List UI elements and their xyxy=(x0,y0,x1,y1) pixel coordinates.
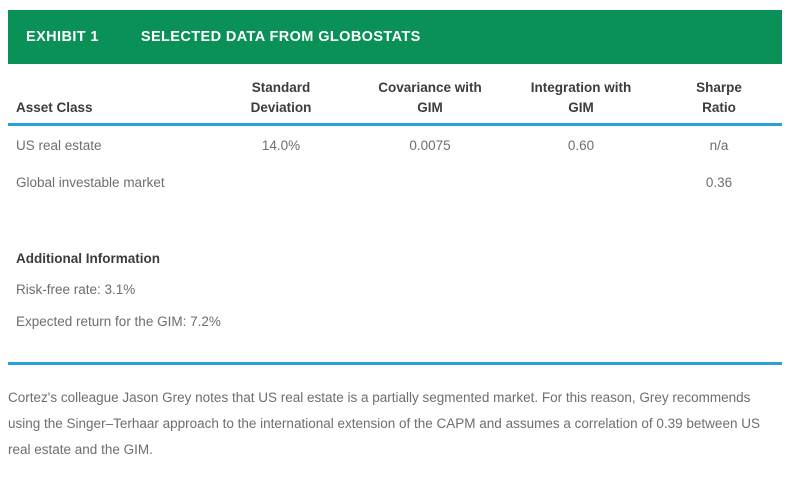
table-row: Global investable market 0.36 xyxy=(8,164,782,201)
cell-asset-class: US real estate xyxy=(8,125,208,165)
exhibit-title: SELECTED DATA FROM GLOBOSTATS xyxy=(141,29,421,45)
note-paragraph: Cortez's colleague Jason Grey notes that… xyxy=(8,385,776,463)
cell-standard-deviation: 14.0% xyxy=(208,125,354,165)
data-table-wrapper: Asset Class Standard Deviation Covarianc… xyxy=(8,78,782,201)
exhibit-banner: EXHIBIT 1 SELECTED DATA FROM GLOBOSTATS xyxy=(8,10,782,64)
column-header-standard-deviation-line1: Standard xyxy=(252,80,311,95)
column-header-integration-line2: GIM xyxy=(568,100,594,115)
column-header-covariance-line2: GIM xyxy=(417,100,443,115)
column-header-asset-class: Asset Class xyxy=(8,78,208,125)
cell-covariance-with-gim: 0.0075 xyxy=(354,125,506,165)
column-header-standard-deviation: Standard Deviation xyxy=(208,78,354,125)
column-header-sharpe-line1: Sharpe xyxy=(696,80,742,95)
additional-information-risk-free-rate: Risk-free rate: 3.1% xyxy=(16,282,616,297)
column-header-sharpe-line2: Ratio xyxy=(702,100,736,115)
additional-information-heading: Additional Information xyxy=(16,251,616,266)
column-header-asset-class-line1: Asset Class xyxy=(16,100,93,115)
cell-standard-deviation xyxy=(208,164,354,201)
cell-asset-class: Global investable market xyxy=(8,164,208,201)
column-header-covariance-line1: Covariance with xyxy=(378,80,482,95)
cell-sharpe-ratio: 0.36 xyxy=(656,164,782,201)
column-header-integration-with-gim: Integration with GIM xyxy=(506,78,656,125)
column-header-standard-deviation-line2: Deviation xyxy=(251,100,312,115)
selected-data-table: Asset Class Standard Deviation Covarianc… xyxy=(8,78,782,201)
bottom-divider xyxy=(8,362,782,365)
table-row: US real estate 14.0% 0.0075 0.60 n/a xyxy=(8,125,782,165)
cell-integration-with-gim: 0.60 xyxy=(506,125,656,165)
exhibit-container: EXHIBIT 1 SELECTED DATA FROM GLOBOSTATS … xyxy=(0,0,790,488)
table-header: Asset Class Standard Deviation Covarianc… xyxy=(8,78,782,125)
table-header-row: Asset Class Standard Deviation Covarianc… xyxy=(8,78,782,125)
column-header-integration-line1: Integration with xyxy=(531,80,632,95)
exhibit-number-label: EXHIBIT 1 xyxy=(26,29,99,45)
additional-information-section: Additional Information Risk-free rate: 3… xyxy=(16,251,616,346)
cell-integration-with-gim xyxy=(506,164,656,201)
cell-sharpe-ratio: n/a xyxy=(656,125,782,165)
column-header-covariance-with-gim: Covariance with GIM xyxy=(354,78,506,125)
additional-information-expected-return: Expected return for the GIM: 7.2% xyxy=(16,314,616,329)
table-body: US real estate 14.0% 0.0075 0.60 n/a Glo… xyxy=(8,125,782,202)
column-header-sharpe-ratio: Sharpe Ratio xyxy=(656,78,782,125)
cell-covariance-with-gim xyxy=(354,164,506,201)
